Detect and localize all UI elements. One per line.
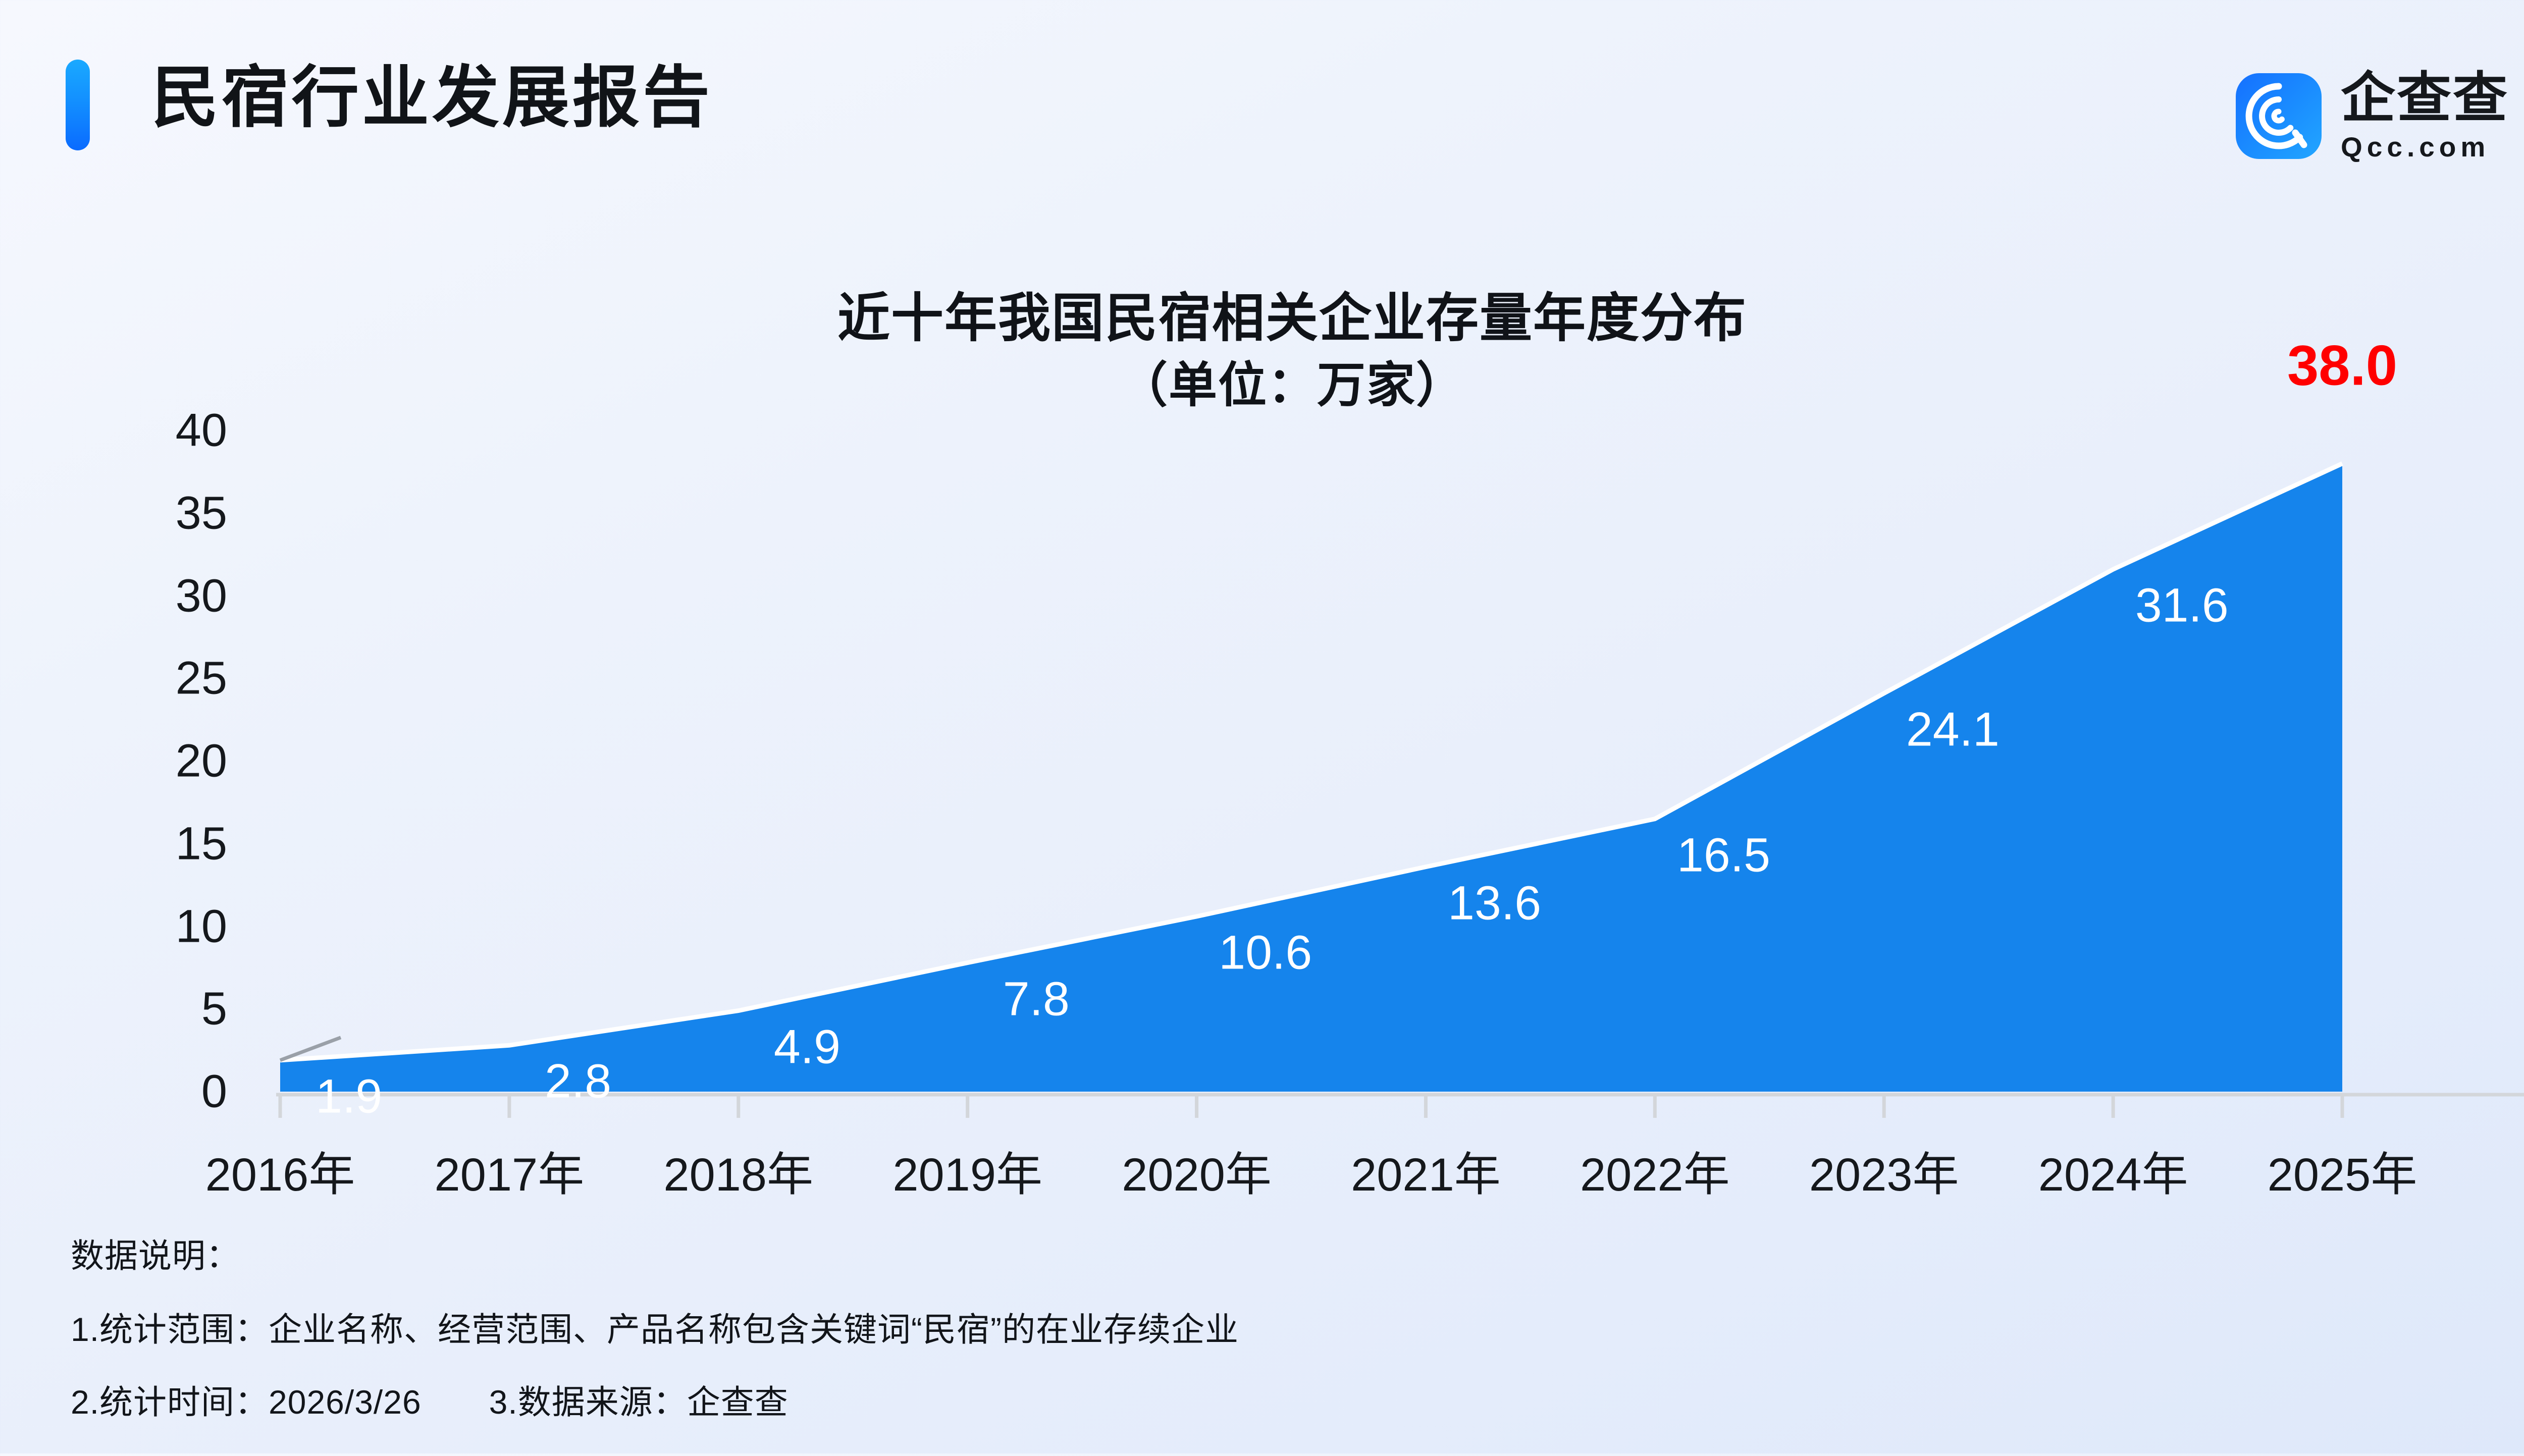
qcc-logo[interactable]: 企查查 Qcc.com [2236, 71, 2509, 161]
area-fill [280, 464, 2342, 1092]
data-value-label: 13.6 [1448, 876, 1541, 931]
chart-title: 近十年我国民宿相关企业存量年度分布 [0, 275, 2524, 351]
x-axis-tick-label: 2022年 [1580, 1137, 1730, 1204]
x-axis-tick-label: 2023年 [1809, 1137, 1959, 1204]
y-axis-tick-label: 5 [96, 983, 227, 1036]
data-value-label: 1.9 [315, 1069, 382, 1124]
qcc-logo-mark-icon [2236, 73, 2322, 159]
data-value-label: 10.6 [1219, 925, 1312, 980]
first-point-leader-line [280, 1038, 341, 1060]
data-notes: 数据说明： 1.统计范围：企业名称、经营范围、产品名称包含关键词“民宿”的在业存… [71, 1239, 2191, 1419]
qcc-logo-domain-label: Qcc.com [2341, 133, 2509, 161]
notes-line-1: 1.统计范围：企业名称、经营范围、产品名称包含关键词“民宿”的在业存续企业 [71, 1313, 2191, 1346]
data-value-label: 24.1 [1906, 702, 2000, 757]
y-axis-tick-label: 10 [96, 900, 227, 953]
x-axis-tick-label: 2017年 [435, 1137, 585, 1204]
qcc-logo-cn-label: 企查查 [2341, 71, 2509, 125]
y-axis-tick-label: 25 [96, 652, 227, 705]
x-axis-tick-label: 2020年 [1122, 1137, 1272, 1204]
chart-canvas [0, 0, 2524, 1453]
x-axis-tick-label: 2016年 [205, 1137, 355, 1204]
x-axis-tick-label: 2018年 [663, 1137, 813, 1204]
y-axis-tick-label: 30 [96, 569, 227, 622]
data-value-label: 16.5 [1677, 828, 1770, 883]
data-value-label: 2.8 [545, 1054, 611, 1109]
qcc-logo-text: 企查查 Qcc.com [2341, 71, 2509, 161]
y-axis-tick-label: 15 [96, 817, 227, 870]
x-axis-tick-label: 2021年 [1351, 1137, 1501, 1204]
area-chart: 0510152025303540 2016年2017年2018年2019年202… [0, 0, 2524, 1453]
y-axis-tick-label: 0 [96, 1065, 227, 1118]
x-axis-tick-label: 2019年 [892, 1137, 1042, 1204]
x-axis-tick-label: 2024年 [2038, 1137, 2188, 1204]
chart-subtitle-unit: （单位：万家） [0, 346, 2524, 416]
notes-line-2: 2.统计时间：2026/3/26 3.数据来源：企查查 [71, 1385, 2191, 1419]
notes-heading: 数据说明： [71, 1239, 2191, 1272]
page-header: 民宿行业发展报告 企查查 Qcc.com [0, 0, 2524, 217]
title-accent-bar [66, 60, 90, 150]
y-axis-tick-label: 35 [96, 487, 227, 540]
data-value-label: 4.9 [774, 1019, 840, 1074]
area-top-line [280, 464, 2342, 1060]
page-title: 民宿行业发展报告 [151, 53, 713, 144]
y-axis-tick-label: 20 [96, 735, 227, 788]
x-axis-tick-label: 2025年 [2268, 1137, 2417, 1204]
data-value-label: 7.8 [1003, 972, 1070, 1027]
data-value-label: 31.6 [2135, 578, 2229, 633]
